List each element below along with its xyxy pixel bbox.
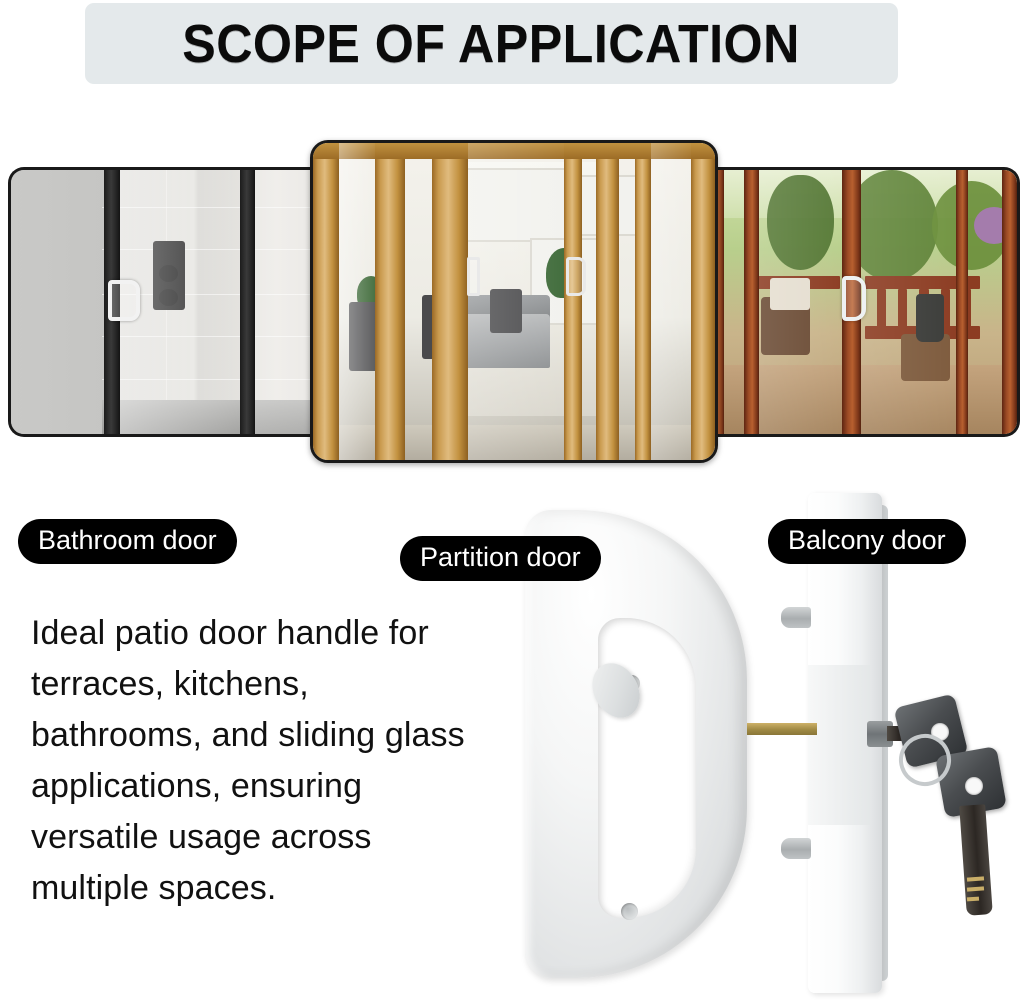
title-banner: SCOPE OF APPLICATION — [85, 3, 898, 84]
backplate-waist — [808, 665, 870, 825]
page-title: SCOPE OF APPLICATION — [183, 13, 801, 75]
application-panels: Bathroom door Partition door Balcony doo… — [0, 130, 1024, 470]
label-bathroom-door: Bathroom door — [18, 519, 237, 564]
label-partition-door: Partition door — [400, 536, 601, 581]
screw-hole-bottom — [621, 903, 638, 920]
label-balcony-door: Balcony door — [768, 519, 966, 564]
balcony-door-handle-in-photo — [842, 276, 867, 321]
panel-balcony-door — [712, 167, 1020, 437]
partition-door-handle-in-photo — [566, 257, 586, 296]
description-text: Ideal patio door handle for terraces, ki… — [31, 608, 481, 914]
brass-spindle — [747, 723, 817, 735]
mounting-post-top — [781, 607, 811, 628]
balcony-door-photo — [712, 170, 1017, 434]
mounting-post-bottom — [781, 838, 811, 859]
partition-door-photo — [313, 143, 715, 460]
panel-partition-door — [310, 140, 718, 463]
bathroom-door-handle-in-photo — [108, 280, 140, 321]
partition-door-handle-secondary-in-photo — [467, 257, 480, 296]
